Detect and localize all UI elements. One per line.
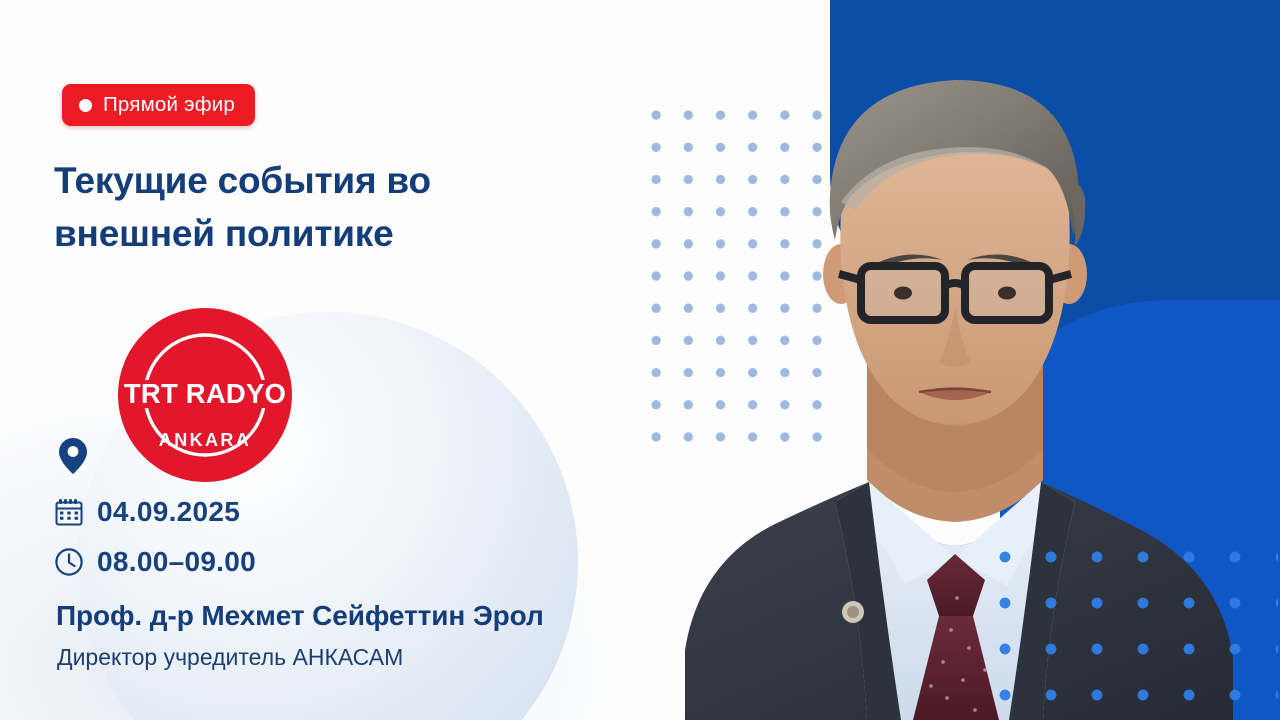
live-dot-icon (79, 99, 92, 112)
logo-brand-text: TRT RADYO (124, 378, 286, 409)
clock-icon (54, 547, 84, 577)
content-column: Прямой эфир Текущие события во внешней п… (0, 0, 640, 720)
live-badge-label: Прямой эфир (103, 93, 235, 117)
schedule-list: 04.09.2025 08.00–09.00 (54, 492, 256, 582)
logo-city-text: ANKARA (159, 430, 251, 450)
schedule-row-date: 04.09.2025 (54, 492, 256, 532)
promo-banner: Прямой эфир Текущие события во внешней п… (0, 0, 1280, 720)
calendar-icon (54, 497, 84, 527)
schedule-date-value: 04.09.2025 (97, 496, 240, 528)
schedule-row-time: 08.00–09.00 (54, 542, 256, 582)
speaker-name: Проф. д-р Мехмет Сейфеттин Эрол (56, 600, 544, 632)
live-badge[interactable]: Прямой эфир (62, 84, 255, 126)
location-pin-icon (58, 437, 88, 475)
schedule-time-value: 08.00–09.00 (97, 546, 256, 578)
trt-radyo-logo: TRT RADYO ANKARA (118, 308, 292, 482)
dot-grid-bright-decor (978, 530, 1278, 720)
speaker-title: Директор учредитель АНКАСАМ (57, 644, 403, 671)
page-title: Текущие события во внешней политике (54, 155, 574, 260)
